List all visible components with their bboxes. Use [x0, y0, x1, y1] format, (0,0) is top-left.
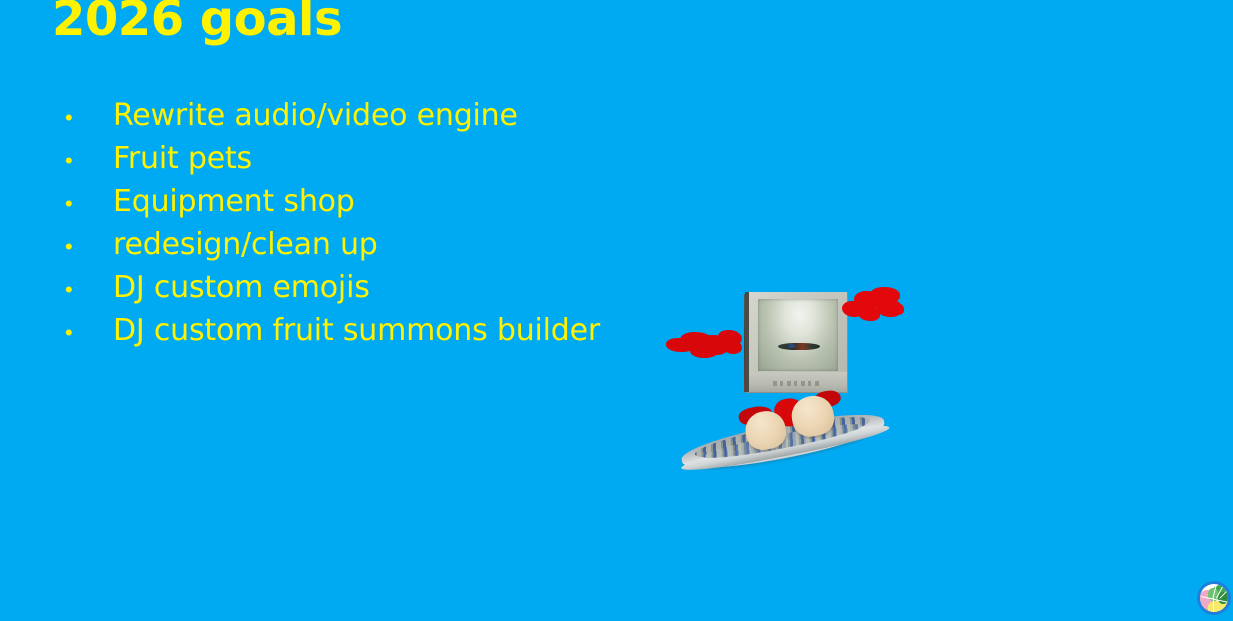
circular-palm-logo-icon: [1197, 581, 1233, 619]
slide-canvas: 2026 goals • Rewrite audio/video engine …: [0, 0, 1233, 621]
bullet-dot-icon: •: [56, 96, 113, 139]
bullet-dot-icon: •: [56, 311, 113, 354]
bullet-dot-icon: •: [56, 268, 113, 311]
goals-bullet-list: • Rewrite audio/video engine • Fruit pet…: [56, 94, 600, 352]
bullet-dot-icon: •: [56, 139, 113, 182]
monitor-screen: [758, 299, 838, 371]
list-item-label: DJ custom fruit summons builder: [113, 309, 600, 352]
list-item: • Fruit pets: [56, 137, 600, 180]
list-item-label: Equipment shop: [113, 180, 355, 223]
list-item: • Rewrite audio/video engine: [56, 94, 600, 137]
bullet-dot-icon: •: [56, 182, 113, 225]
monitor-bezel: [749, 372, 847, 392]
screen-content-accent: [788, 344, 795, 348]
logo-inner-disc: [1200, 584, 1228, 612]
list-item: • redesign/clean up: [56, 223, 600, 266]
page-title: 2026 goals: [52, 0, 342, 49]
list-item-label: Rewrite audio/video engine: [113, 94, 518, 137]
screen-content-shape: [778, 343, 820, 350]
red-sleeve-right-icon: [842, 287, 904, 327]
list-item-label: redesign/clean up: [113, 223, 378, 266]
list-item-label: Fruit pets: [113, 137, 252, 180]
monitor-brand-mark: [773, 381, 819, 386]
computer-monitor-keyboard-graphic: [660, 280, 910, 485]
list-item-label: DJ custom emojis: [113, 266, 370, 309]
list-item: • Equipment shop: [56, 180, 600, 223]
monitor-icon: [745, 292, 847, 392]
keyboard-icon: [667, 381, 902, 500]
list-item: • DJ custom emojis: [56, 266, 600, 309]
list-item: • DJ custom fruit summons builder: [56, 309, 600, 352]
bullet-dot-icon: •: [56, 225, 113, 268]
logo-outer-ring: [1197, 581, 1231, 615]
red-sleeve-left-icon: [666, 326, 742, 360]
